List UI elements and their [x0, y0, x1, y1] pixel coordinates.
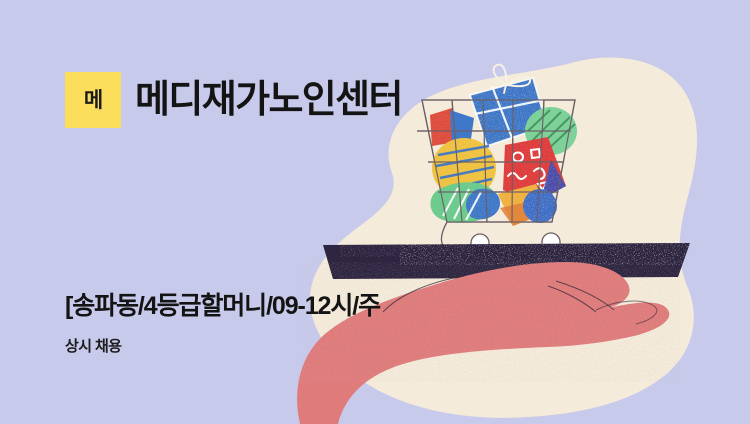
- brand-initial-badge: 메: [65, 72, 121, 128]
- brand-badge-text: 메: [84, 90, 102, 111]
- illustration-shopping-cart: [0, 0, 750, 424]
- brand-title: 메디재가노인센터: [135, 81, 402, 119]
- job-ad-banner: 메 메디재가노인센터 [송파동/4등급할머니/09-12시/주 상시 채용: [0, 0, 750, 424]
- job-subline: 상시 채용: [65, 338, 121, 356]
- job-headline: [송파동/4등급할머니/09-12시/주: [65, 292, 380, 321]
- item-blue-ball: [523, 189, 557, 223]
- brand-row: 메 메디재가노인센터: [65, 72, 402, 128]
